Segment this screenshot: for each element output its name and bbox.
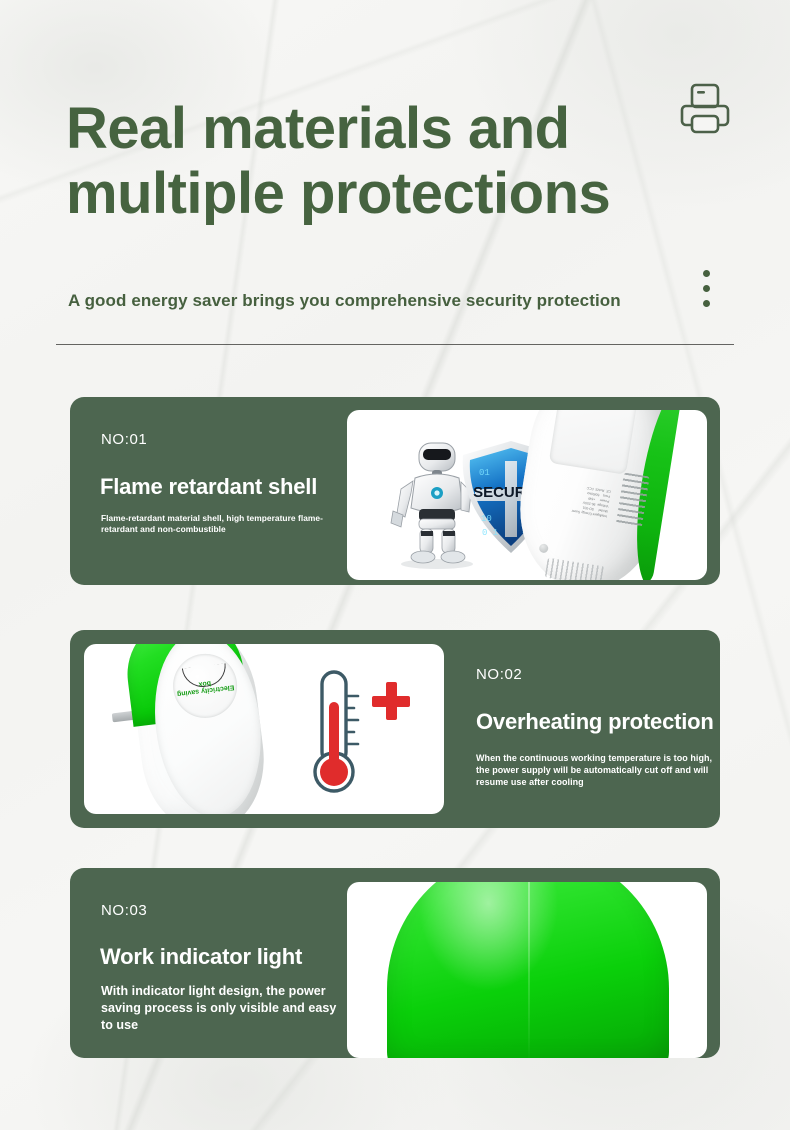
card-number: NO:02 xyxy=(476,666,522,683)
card-media-panel: SECURITY 0110 1001 0 11 0 Intelligent En… xyxy=(347,410,707,580)
header-divider xyxy=(56,344,734,345)
menu-dot xyxy=(703,300,710,307)
card-title: Overheating protection xyxy=(476,709,714,735)
card-title: Flame retardant shell xyxy=(100,474,317,500)
card-media-panel: Electricity saving box xyxy=(84,644,444,814)
card-description: With indicator light design, the power s… xyxy=(101,983,343,1034)
card-description: Flame-retardant material shell, high tem… xyxy=(101,513,343,535)
indicator-light-dome xyxy=(387,882,669,1058)
card-title: Work indicator light xyxy=(100,944,302,970)
thermometer-icon xyxy=(306,668,368,796)
device-logo: Electricity saving box xyxy=(169,650,240,721)
card-media-panel: INTELLIGENT ENERGY SAVER Electricity sav… xyxy=(347,882,707,1058)
feature-card-02[interactable]: NO:02 Overheating protection When the co… xyxy=(70,630,720,828)
card-description: When the continuous working temperature … xyxy=(476,752,714,788)
feature-card-03[interactable]: NO:03 Work indicator light With indicato… xyxy=(70,868,720,1058)
menu-dot xyxy=(703,270,710,277)
page-title: Real materials and multiple protections xyxy=(66,96,706,226)
feature-card-01[interactable]: NO:01 Flame retardant shell Flame-retard… xyxy=(70,397,720,585)
svg-text:10: 10 xyxy=(481,514,492,524)
energy-saver-plug-closeup: INTELLIGENT ENERGY SAVER Electricity sav… xyxy=(347,882,707,1058)
more-vertical-icon[interactable] xyxy=(700,270,712,307)
svg-text:01: 01 xyxy=(479,468,490,478)
card-number: NO:01 xyxy=(101,431,147,448)
energy-saver-plug-back: Intelligent Energy Saver Model SD-001 Vo… xyxy=(508,410,682,580)
card-number: NO:03 xyxy=(101,902,147,919)
menu-dot xyxy=(703,285,710,292)
page-subtitle: A good energy saver brings you comprehen… xyxy=(68,291,621,311)
energy-saver-plug-front: Electricity saving box xyxy=(107,644,273,814)
infographic-page: Real materials and multiple protections … xyxy=(0,0,790,1130)
device-logo-text: Electricity saving box xyxy=(173,676,238,698)
svg-text:0 1: 0 1 xyxy=(482,528,498,538)
plus-icon xyxy=(372,682,410,720)
